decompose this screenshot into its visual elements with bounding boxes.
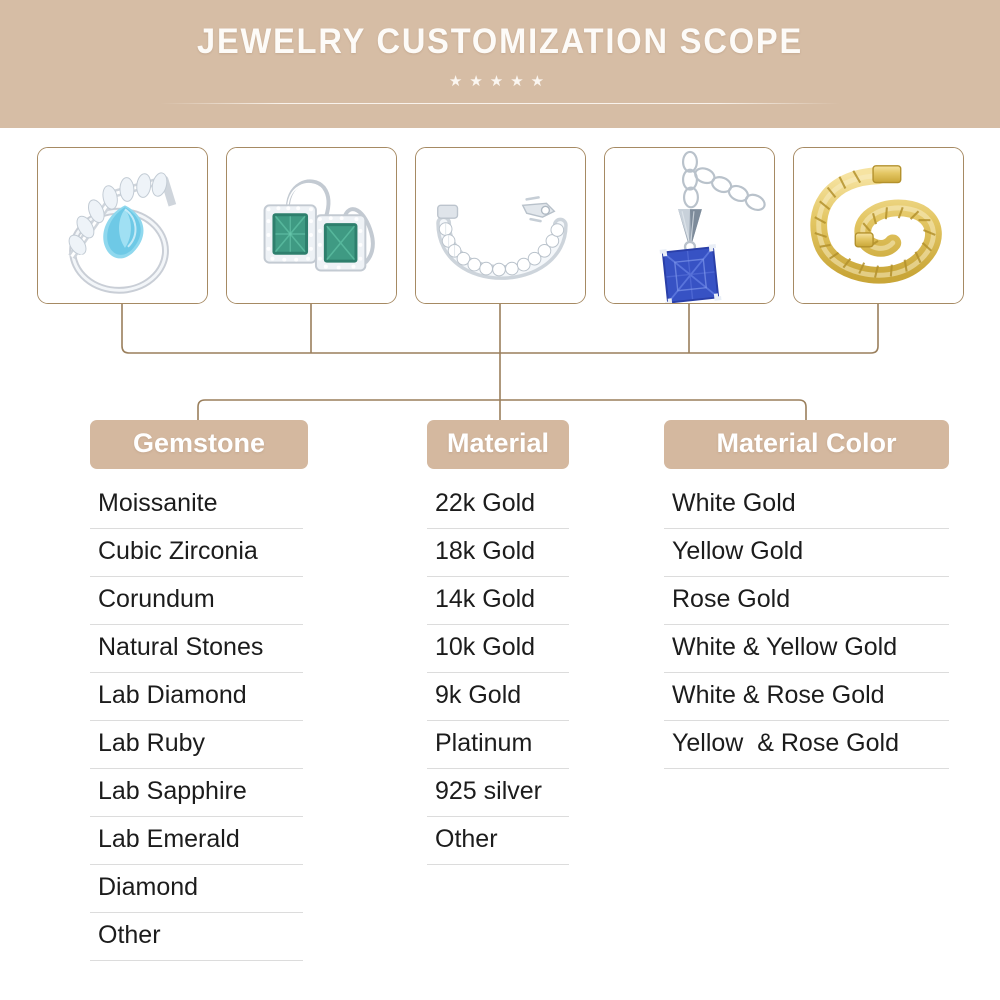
connector-tree (0, 300, 1000, 435)
category-material: Material 22k Gold 18k Gold 14k Gold 10k … (427, 420, 569, 865)
list-item[interactable]: 925 silver (427, 769, 569, 817)
list-item[interactable]: Diamond (90, 865, 303, 913)
list-item[interactable]: Other (427, 817, 569, 865)
gold-chain-icon (794, 148, 963, 303)
product-card-row (37, 147, 963, 304)
bracelet-icon (416, 148, 585, 303)
star-decoration-icon: ★★★★★ (0, 72, 1000, 92)
list-item[interactable]: Lab Ruby (90, 721, 303, 769)
product-card-earrings[interactable] (226, 147, 397, 304)
list-item[interactable]: White & Rose Gold (664, 673, 949, 721)
category-header-material-color: Material Color (664, 420, 949, 469)
list-item[interactable]: Rose Gold (664, 577, 949, 625)
list-item[interactable]: 10k Gold (427, 625, 569, 673)
category-header-gemstone: Gemstone (90, 420, 308, 469)
category-material-color: Material Color White Gold Yellow Gold Ro… (664, 420, 949, 769)
list-item[interactable]: Other (90, 913, 303, 961)
list-item[interactable]: 18k Gold (427, 529, 569, 577)
product-card-chain[interactable] (793, 147, 964, 304)
material-color-option-list: White Gold Yellow Gold Rose Gold White &… (664, 481, 949, 769)
header-divider (160, 103, 840, 104)
list-item[interactable]: 14k Gold (427, 577, 569, 625)
gemstone-option-list: Moissanite Cubic Zirconia Corundum Natur… (90, 481, 308, 961)
category-gemstone: Gemstone Moissanite Cubic Zirconia Corun… (90, 420, 308, 961)
product-card-ring[interactable] (37, 147, 208, 304)
product-card-bracelet[interactable] (415, 147, 586, 304)
infographic-page: JEWELRY CUSTOMIZATION SCOPE ★★★★★ (0, 0, 1000, 1000)
list-item[interactable]: Yellow Gold (664, 529, 949, 577)
list-item[interactable]: Platinum (427, 721, 569, 769)
header-banner: JEWELRY CUSTOMIZATION SCOPE ★★★★★ (0, 0, 1000, 128)
list-item[interactable]: 22k Gold (427, 481, 569, 529)
earrings-icon (227, 148, 396, 303)
list-item[interactable]: White & Yellow Gold (664, 625, 949, 673)
list-item[interactable]: Corundum (90, 577, 303, 625)
list-item[interactable]: 9k Gold (427, 673, 569, 721)
list-item[interactable]: Lab Sapphire (90, 769, 303, 817)
list-item[interactable]: Lab Emerald (90, 817, 303, 865)
list-item[interactable]: Lab Diamond (90, 673, 303, 721)
necklace-icon (605, 148, 774, 303)
category-header-material: Material (427, 420, 569, 469)
list-item[interactable]: White Gold (664, 481, 949, 529)
list-item[interactable]: Yellow & Rose Gold (664, 721, 949, 769)
list-item[interactable]: Natural Stones (90, 625, 303, 673)
list-item[interactable]: Cubic Zirconia (90, 529, 303, 577)
ring-icon (38, 148, 207, 303)
connector-lines (0, 300, 1000, 435)
list-item[interactable]: Moissanite (90, 481, 303, 529)
page-title: JEWELRY CUSTOMIZATION SCOPE (35, 22, 965, 62)
product-card-necklace[interactable] (604, 147, 775, 304)
material-option-list: 22k Gold 18k Gold 14k Gold 10k Gold 9k G… (427, 481, 569, 865)
